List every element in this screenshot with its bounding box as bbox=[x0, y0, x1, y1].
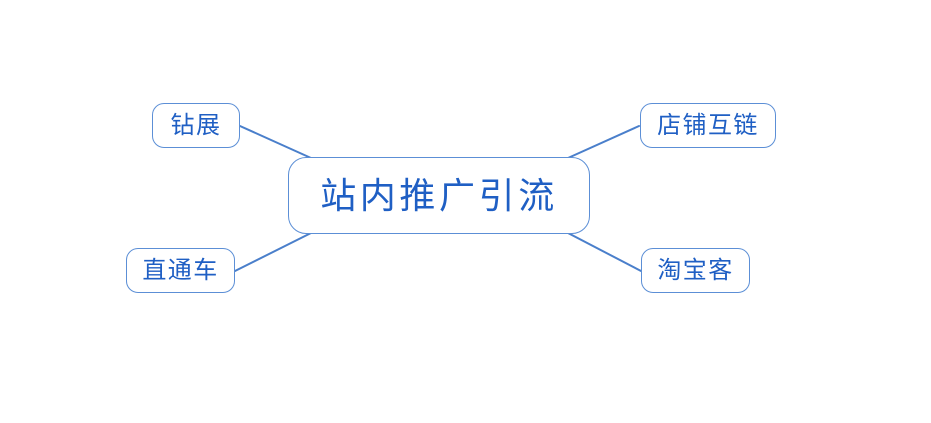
connector-zhanzhan-root bbox=[240, 126, 311, 158]
mindmap-branch-node-label: 店铺互链 bbox=[657, 114, 759, 138]
mindmap-root-node[interactable]: 站内推广引流 bbox=[288, 157, 590, 234]
connector-root-dianpu bbox=[568, 126, 639, 158]
mindmap-canvas: 站内推广引流 钻展 店铺互链 直通车 淘宝客 bbox=[0, 0, 931, 423]
connector-zhitongche-root bbox=[235, 233, 311, 271]
connector-root-taobaoke bbox=[568, 233, 641, 271]
mindmap-root-node-label: 站内推广引流 bbox=[320, 178, 558, 214]
mindmap-branch-node-zhitongche[interactable]: 直通车 bbox=[126, 248, 235, 293]
mindmap-branch-node-label: 淘宝客 bbox=[657, 259, 733, 283]
mindmap-branch-node-label: 钻展 bbox=[171, 114, 222, 138]
mindmap-branch-node-dianpu[interactable]: 店铺互链 bbox=[640, 103, 776, 148]
mindmap-branch-node-label: 直通车 bbox=[142, 259, 218, 283]
mindmap-branch-node-taobaoke[interactable]: 淘宝客 bbox=[641, 248, 750, 293]
mindmap-branch-node-zhanzhan[interactable]: 钻展 bbox=[152, 103, 240, 148]
